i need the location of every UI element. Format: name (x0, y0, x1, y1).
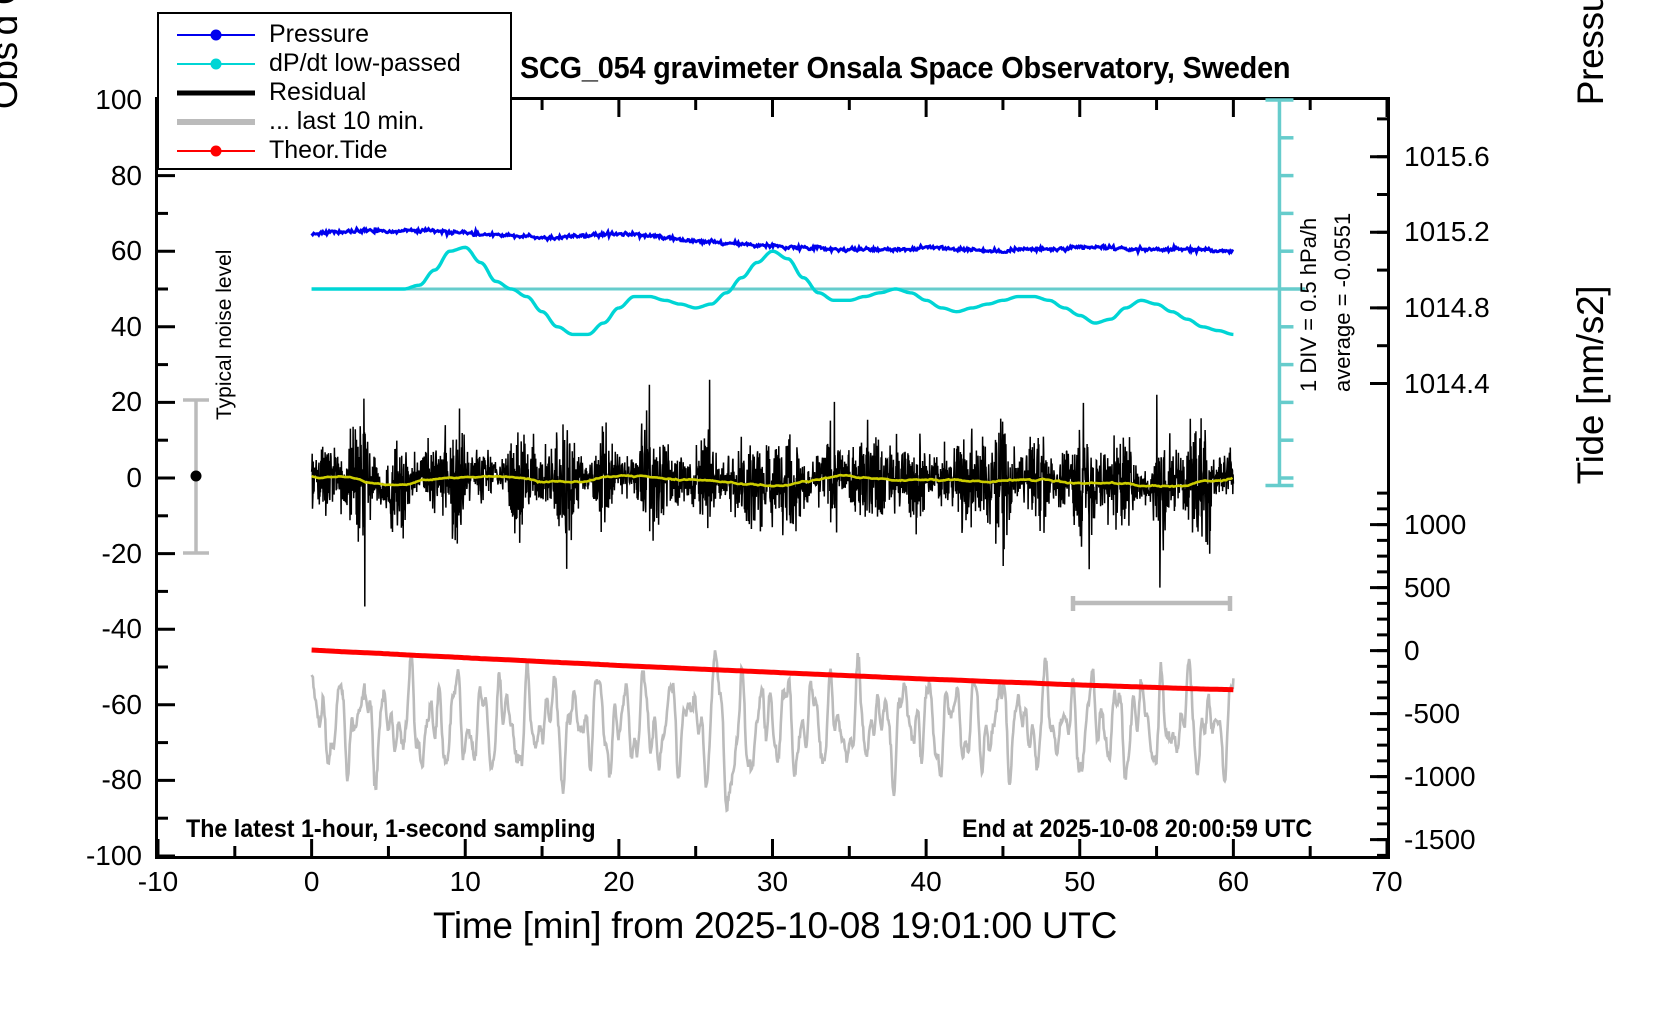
legend-swatch-icon (177, 112, 255, 132)
page-title: SCG_054 gravimeter Onsala Space Observat… (520, 50, 1290, 86)
plot-area (155, 97, 1390, 859)
y-tick-label-pressure: 1014.4 (1404, 370, 1490, 398)
x-tick-label: 50 (1040, 868, 1120, 896)
y-tick-label-left: 80 (111, 162, 142, 190)
y-tick-label-pressure: 1015.2 (1404, 218, 1490, 246)
y-tick-label-left: 60 (111, 237, 142, 265)
x-tick-label: 0 (272, 868, 352, 896)
y-tick-label-tide: 0 (1404, 637, 1420, 665)
legend-item-label: ... last 10 min. (255, 107, 425, 136)
legend-item-2[interactable]: Residual (159, 78, 510, 107)
legend-item-3[interactable]: ... last 10 min. (159, 107, 510, 136)
legend-item-label: Residual (255, 78, 366, 107)
x-axis-tick-labels: -10010203040506070 (0, 868, 1660, 908)
legend-item-4[interactable]: Theor.Tide (159, 136, 510, 165)
y-tick-label-left: -60 (102, 691, 142, 719)
y-tick-label-tide: -500 (1404, 700, 1460, 728)
y-axis-label-left: Obs'd Gravity [nm/s2] (0, 0, 26, 215)
y-tick-label-tide: -1000 (1404, 763, 1476, 791)
legend[interactable]: PressuredP/dt low-passedResidual... last… (157, 12, 512, 170)
legend-item-label: Theor.Tide (255, 136, 388, 165)
y-tick-label-left: 0 (126, 464, 142, 492)
y-tick-label-tide: 1000 (1404, 511, 1466, 539)
y-tick-label-tide: -1500 (1404, 826, 1476, 854)
x-tick-label: 60 (1193, 868, 1273, 896)
y-axis-tick-labels-left: 100806040200-20-40-60-80-100 (42, 0, 142, 1020)
legend-item-label: Pressure (255, 20, 369, 49)
y-axis-tick-labels-right: 1015.61015.21014.81014.410005000-500-100… (1404, 0, 1564, 1020)
x-tick-label: 10 (425, 868, 505, 896)
y-tick-label-left: -40 (102, 615, 142, 643)
y-tick-label-left: 40 (111, 313, 142, 341)
x-tick-label: 20 (579, 868, 659, 896)
annotation-noise-level: Typical noise level (213, 250, 237, 420)
x-axis-label: Time [min] from 2025-10-08 19:01:00 UTC (155, 905, 1395, 947)
y-tick-label-left: -20 (102, 540, 142, 568)
x-tick-label: 40 (886, 868, 966, 896)
y-tick-label-left: 100 (95, 86, 142, 114)
annotation-scale-div: 1 DIV = 0.5 hPa/h (1296, 218, 1322, 392)
legend-item-label: dP/dt low-passed (255, 49, 461, 78)
y-tick-label-pressure: 1015.6 (1404, 143, 1490, 171)
annotation-end-time: End at 2025-10-08 20:00:59 UTC (962, 815, 1312, 844)
y-axis-label-tide: Tide [nm/s2] (1570, 225, 1612, 545)
legend-swatch-icon (177, 141, 255, 161)
y-axis-label-pressure: Pressure [hPa] (1570, 0, 1612, 150)
legend-item-0[interactable]: Pressure (159, 20, 510, 49)
x-tick-label: 30 (733, 868, 813, 896)
y-tick-label-pressure: 1014.8 (1404, 294, 1490, 322)
legend-item-1[interactable]: dP/dt low-passed (159, 49, 510, 78)
legend-swatch-icon (177, 25, 255, 45)
y-tick-label-left: -80 (102, 766, 142, 794)
y-tick-label-left: 20 (111, 388, 142, 416)
legend-swatch-icon (177, 83, 255, 103)
annotation-average: average = -0.0551 (1330, 213, 1356, 392)
y-tick-label-left: -100 (86, 842, 142, 870)
x-tick-label: -10 (118, 868, 198, 896)
x-tick-label: 70 (1347, 868, 1427, 896)
y-tick-label-tide: 500 (1404, 574, 1451, 602)
annotation-sampling: The latest 1-hour, 1-second sampling (186, 815, 596, 844)
legend-swatch-icon (177, 54, 255, 74)
